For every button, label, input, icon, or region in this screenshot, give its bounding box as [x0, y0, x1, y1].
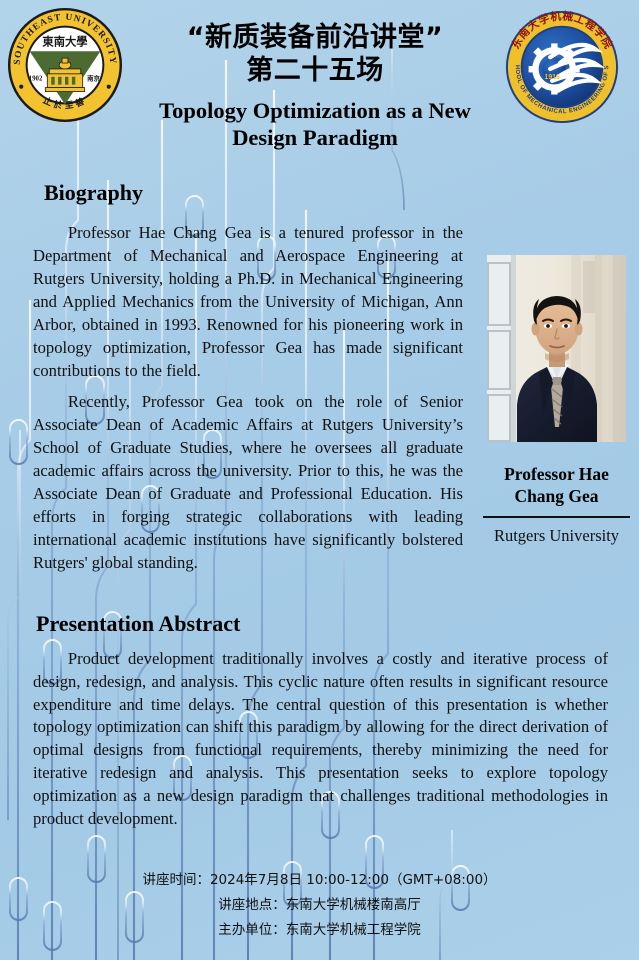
svg-text:南京: 南京 [87, 74, 100, 83]
speaker-portrait [487, 255, 626, 442]
seminar-poster: SOUTHEAST UNIVERSITY 止於至善 東南大學 1902 南京 [0, 0, 639, 960]
school-of-mechanical-engineering-logo: 东南大学机械工程学院 SCHOOL OF MECHANICAL ENGINEER… [503, 8, 621, 126]
biography-heading: Biography [44, 180, 143, 206]
series-title-cn: “新质装备前沿讲堂” [130, 22, 500, 55]
presentation-abstract-heading: Presentation Abstract [36, 611, 240, 637]
speaker-name-line1: Professor Hae [483, 464, 630, 486]
talk-title-line2: Design Paradigm [130, 124, 500, 151]
svg-text:1902: 1902 [29, 76, 43, 83]
event-details-footer: 讲座时间：2024年7月8日 10:00-12:00（GMT+08:00） 讲座… [0, 868, 639, 943]
event-venue: 讲座地点：东南大学机械楼南高厅 [0, 893, 639, 918]
biography-paragraph-2: Recently, Professor Gea took on the role… [33, 391, 463, 575]
speaker-affiliation: Rutgers University [483, 526, 630, 546]
abstract-paragraph: Product development traditionally involv… [33, 648, 608, 831]
biography-paragraph-1: Professor Hae Chang Gea is a tenured pro… [33, 222, 463, 383]
speaker-card: Professor Hae Chang Gea Rutgers Universi… [483, 255, 630, 546]
svg-text:東南大學: 東南大學 [42, 34, 87, 48]
svg-text:1916: 1916 [545, 74, 560, 81]
event-organizer: 主办单位：东南大学机械工程学院 [0, 918, 639, 943]
event-time: 讲座时间：2024年7月8日 10:00-12:00（GMT+08:00） [0, 868, 639, 893]
presentation-abstract-body: Product development traditionally involv… [33, 648, 608, 831]
speaker-name: Professor Hae Chang Gea [483, 464, 630, 508]
poster-header: “新质装备前沿讲堂” 第二十五场 Topology Optimization a… [130, 22, 500, 152]
speaker-divider [483, 516, 630, 518]
southeast-university-seal: SOUTHEAST UNIVERSITY 止於至善 東南大學 1902 南京 [6, 6, 124, 124]
biography-body: Professor Hae Chang Gea is a tenured pro… [33, 222, 463, 575]
series-number-cn: 第二十五场 [130, 55, 500, 88]
talk-title-line1: Topology Optimization as a New [130, 97, 500, 124]
speaker-name-line2: Chang Gea [483, 486, 630, 508]
